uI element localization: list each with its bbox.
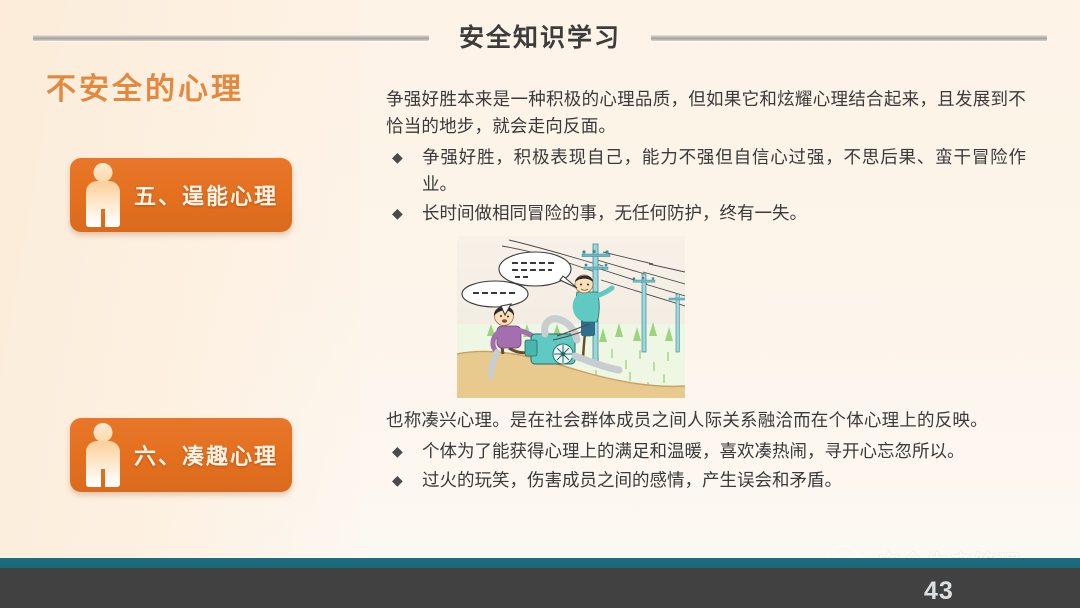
list-item-text: 个体为了能获得心理上的满足和温暖，喜欢凑热闹，寻开心忘忽所以。: [422, 441, 965, 461]
nav-chip-six-label: 六、凑趣心理: [134, 439, 278, 471]
list-item: ◆ 个体为了能获得心理上的满足和温暖，喜欢凑热闹，寻开心忘忽所以。: [386, 438, 1026, 465]
slide-root: 安全知识学习 不安全的心理 五、逞能心理 六、凑趣心理 争强好胜本来是一种积极的…: [0, 0, 1080, 608]
page-title: 不安全的心理: [46, 64, 244, 108]
block2-bullet-list: ◆ 个体为了能获得心理上的满足和温暖，喜欢凑热闹，寻开心忘忽所以。 ◆ 过火的玩…: [386, 438, 1026, 494]
list-item: ◆ 争强好胜，积极表现自己，能力不强但自信心过强，不思后果、蛮干冒险作业。: [386, 144, 1026, 198]
list-item-text: 过火的玩笑，伤害成员之间的感情，产生误会和矛盾。: [422, 470, 842, 490]
diamond-bullet-icon: ◆: [392, 438, 403, 465]
person-icon: [80, 423, 126, 487]
header-rule-left: [33, 35, 429, 41]
footer-teal-bar: [0, 558, 1080, 568]
nav-chip-five-label: 五、逞能心理: [134, 179, 278, 211]
list-item-text: 争强好胜，积极表现自己，能力不强但自信心过强，不思后果、蛮干冒险作业。: [422, 147, 1026, 194]
footer-dark-bar: [0, 568, 1080, 608]
diamond-bullet-icon: ◆: [392, 200, 403, 227]
list-item: ◆ 过火的玩笑，伤害成员之间的感情，产生误会和矛盾。: [386, 467, 1026, 494]
diamond-bullet-icon: ◆: [392, 144, 403, 171]
nav-chip-six[interactable]: 六、凑趣心理: [70, 418, 292, 492]
list-item-text: 长时间做相同冒险的事，无任何防护，终有一失。: [422, 203, 807, 223]
block1-bullet-list: ◆ 争强好胜，积极表现自己，能力不强但自信心过强，不思后果、蛮干冒险作业。 ◆ …: [386, 144, 1026, 227]
diamond-bullet-icon: ◆: [392, 467, 403, 494]
slide-header: 安全知识学习: [0, 16, 1080, 60]
header-rule-right: [651, 35, 1047, 41]
unsafe-electrical-work-illustration: [457, 236, 685, 398]
page-number: 43: [924, 577, 954, 606]
block2-paragraph: 也称凑兴心理。是在社会群体成员之间人际关系融洽而在个体心理上的反映。: [386, 407, 1026, 434]
header-title: 安全知识学习: [459, 26, 621, 51]
block1-paragraph: 争强好胜本来是一种积极的心理品质，但如果它和炫耀心理结合起来，且发展到不恰当的地…: [386, 86, 1026, 140]
list-item: ◆ 长时间做相同冒险的事，无任何防护，终有一失。: [386, 200, 1026, 227]
person-icon: [80, 163, 126, 227]
nav-chip-five[interactable]: 五、逞能心理: [70, 158, 292, 232]
